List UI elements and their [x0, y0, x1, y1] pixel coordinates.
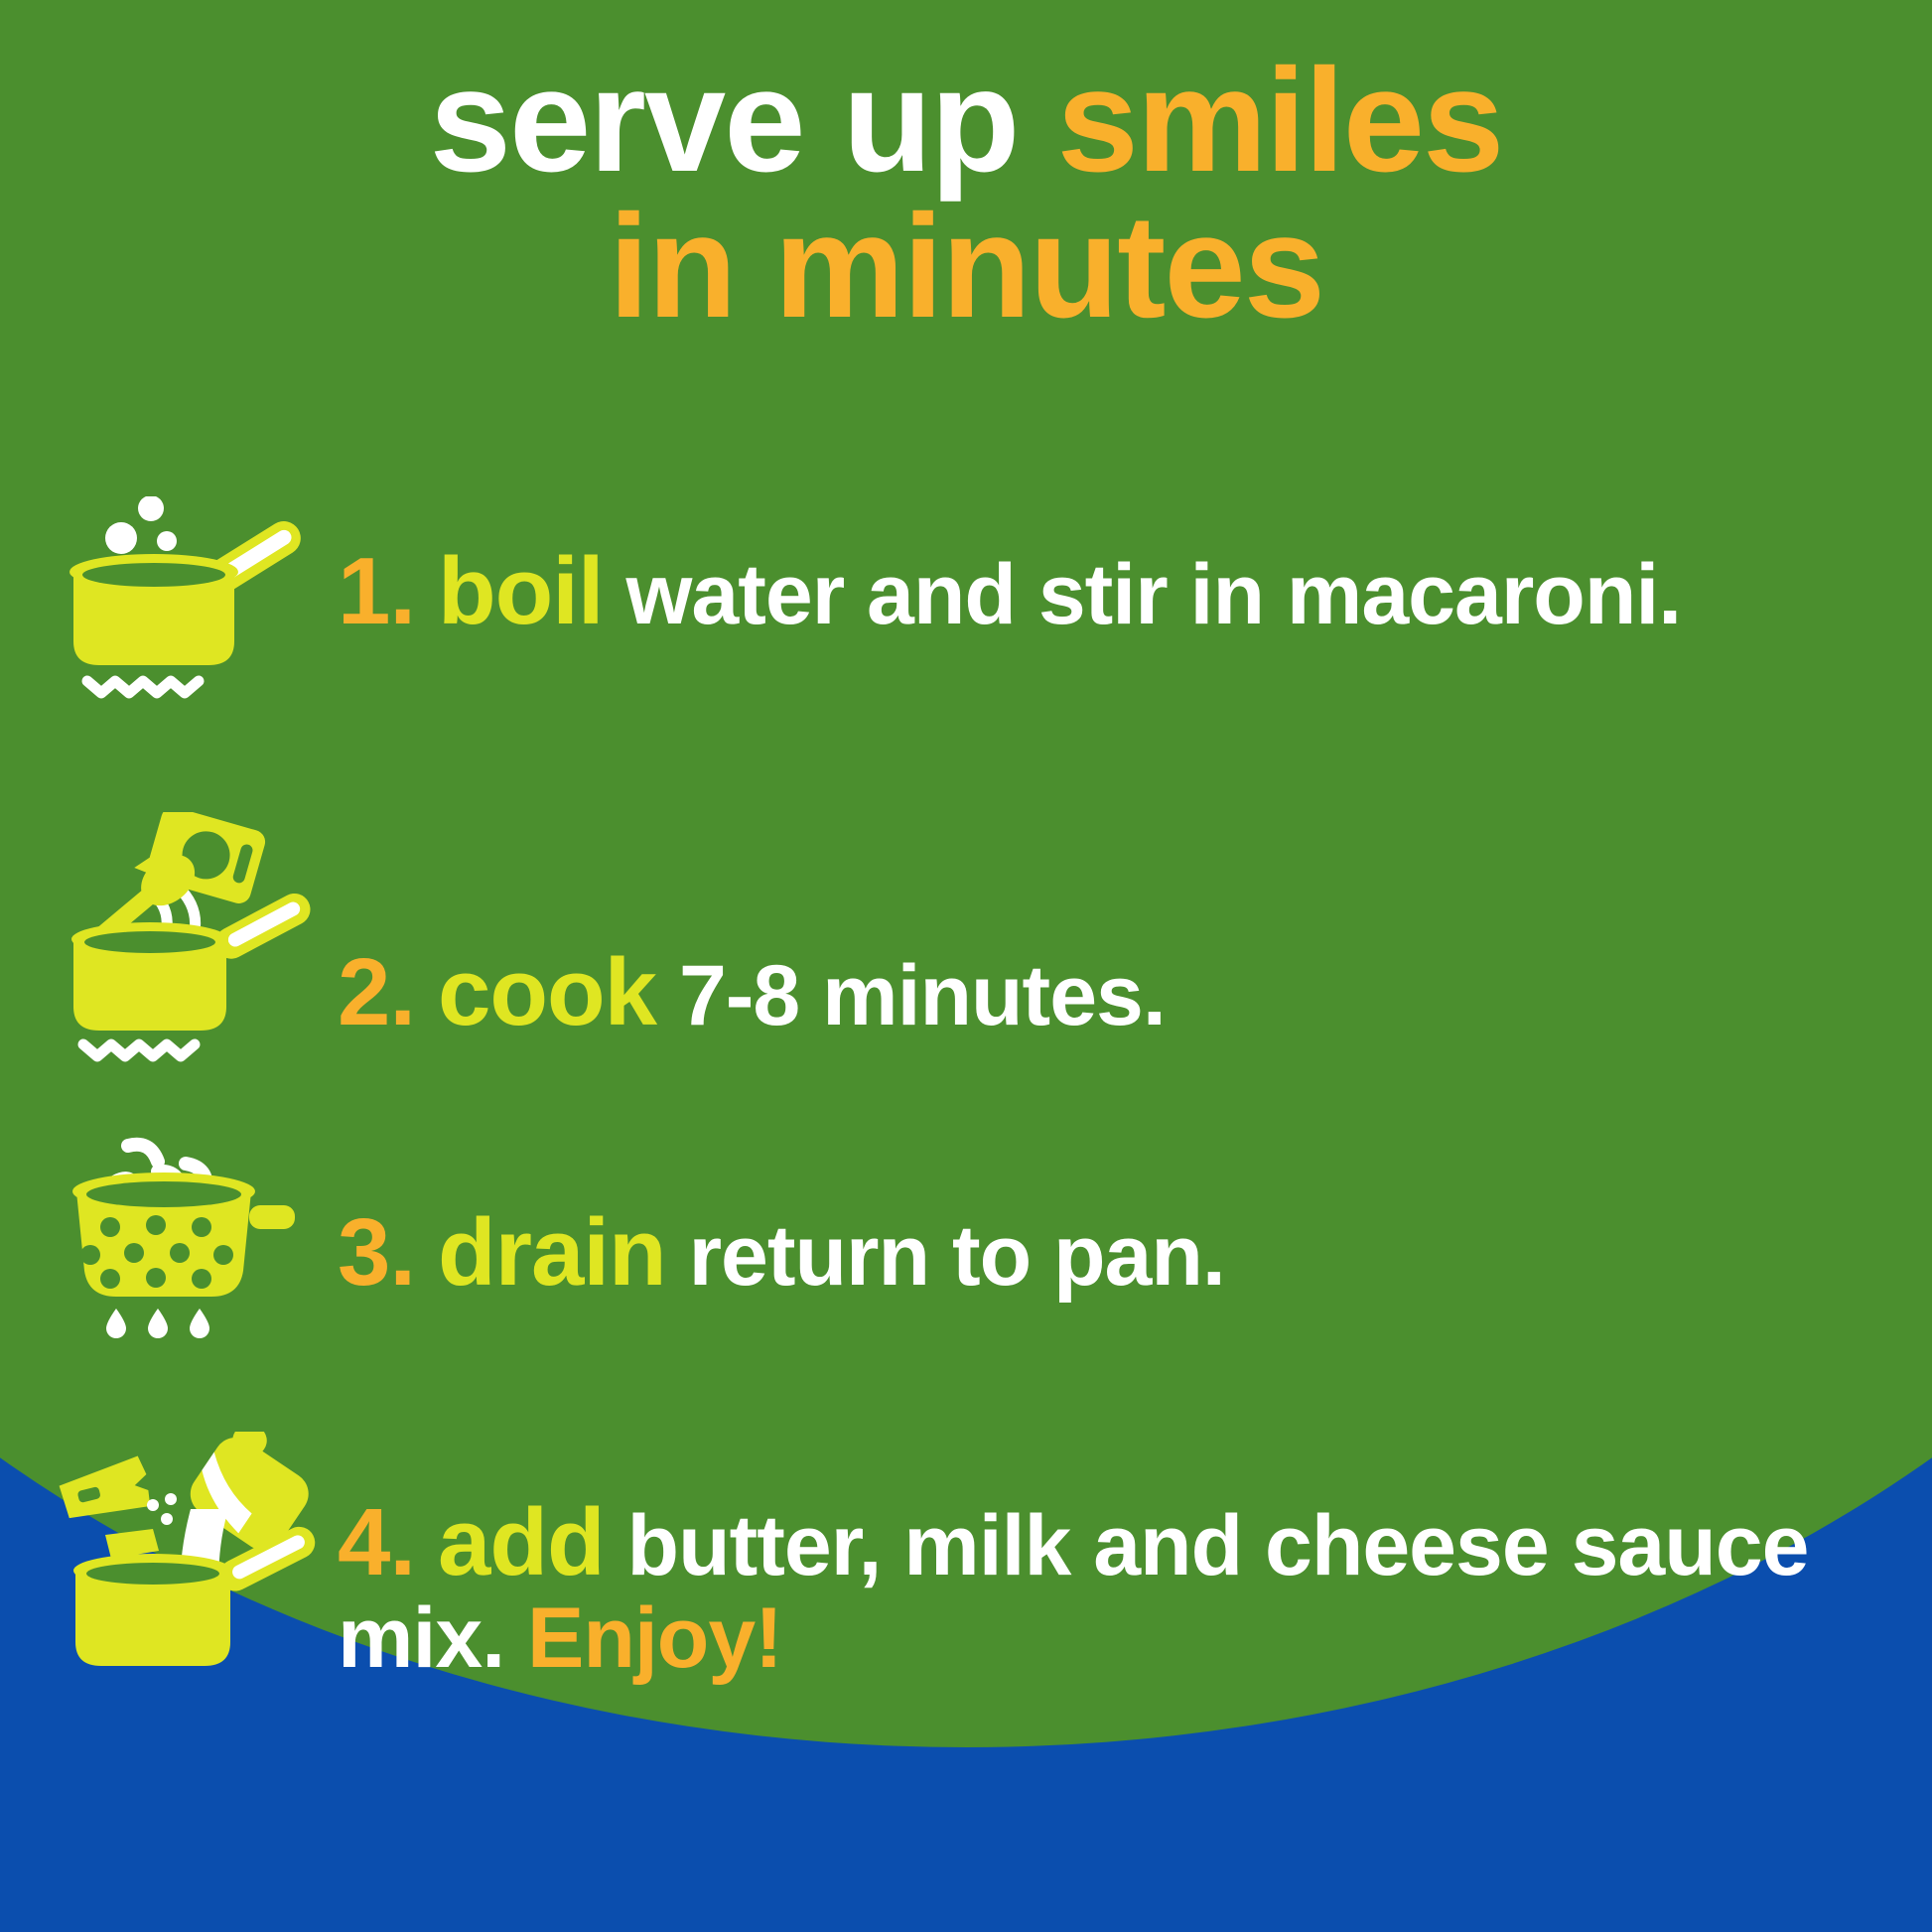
saucepan-boiling-icon	[60, 496, 308, 705]
list-item: 4. add butter, milk and cheese sauce mix…	[0, 1432, 1932, 1729]
list-item: 1. boil water and stir in macaroni.	[0, 496, 1932, 794]
step-3-text: 3. drain return to pan.	[328, 1120, 1932, 1304]
step-3-description: return to pan.	[689, 1208, 1225, 1304]
step-1-icon-wrap	[0, 496, 328, 705]
step-4-enjoy-callout: Enjoy!	[527, 1590, 782, 1686]
step-2-icon-wrap	[0, 812, 328, 1070]
headline-smiles: smiles	[1057, 39, 1503, 203]
list-item: 3. drain return to pan.	[0, 1120, 1932, 1418]
step-2-description: 7-8 minutes.	[679, 948, 1166, 1043]
step-1-verb: boil	[438, 538, 604, 644]
saucepan-pouring-milk-icon	[50, 1432, 318, 1680]
step-4-verb: add	[438, 1489, 605, 1595]
headline-in-minutes: in minutes	[609, 185, 1323, 348]
step-2-number: 2.	[338, 939, 415, 1045]
list-item: 2. cook 7-8 minutes.	[0, 812, 1932, 1110]
headline-serve-up: serve up	[430, 39, 1019, 203]
step-1-description: water and stir in macaroni.	[626, 547, 1682, 642]
saucepan-stirring-timer-icon	[50, 812, 318, 1070]
page-title: serve up smiles in minutes	[0, 52, 1932, 337]
step-1-text: 1. boil water and stir in macaroni.	[328, 496, 1932, 642]
step-2-verb: cook	[438, 939, 656, 1045]
poster-content: serve up smiles in minutes	[0, 0, 1932, 1932]
step-4-text: 4. add butter, milk and cheese sauce mix…	[328, 1432, 1932, 1683]
step-3-number: 3.	[338, 1199, 415, 1306]
step-3-verb: drain	[438, 1199, 666, 1306]
step-3-icon-wrap	[0, 1120, 328, 1348]
headline-line-1: serve up smiles	[0, 52, 1932, 192]
step-1-number: 1.	[338, 538, 415, 644]
headline-line-2: in minutes	[0, 198, 1932, 338]
recipe-instructions-poster: serve up smiles in minutes	[0, 0, 1932, 1932]
step-4-icon-wrap	[0, 1432, 328, 1680]
steps-list: 1. boil water and stir in macaroni.	[0, 496, 1932, 1729]
colander-draining-icon	[55, 1120, 313, 1348]
step-4-number: 4.	[338, 1489, 415, 1595]
step-2-text: 2. cook 7-8 minutes.	[328, 812, 1932, 1043]
